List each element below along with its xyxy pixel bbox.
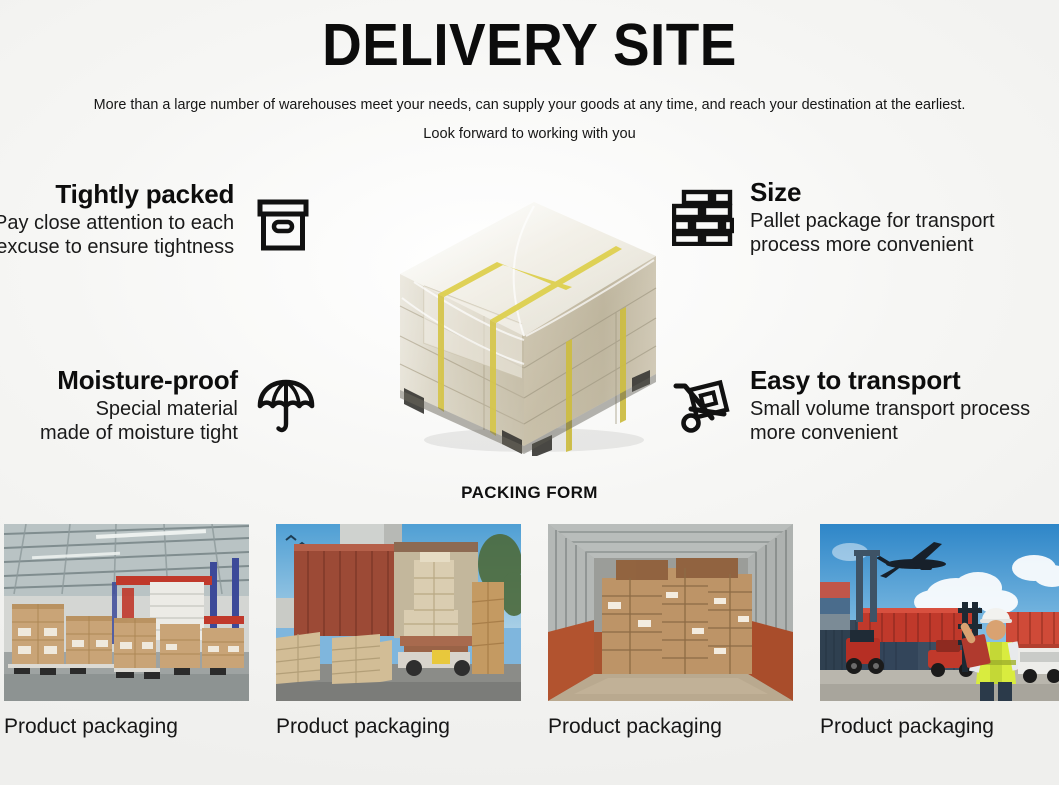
feature-text-block: Moisture-proof Special material made of … (40, 366, 238, 445)
feature-size: Size Pallet package for transport proces… (672, 178, 995, 257)
gallery-caption: Product packaging (276, 716, 521, 737)
box-icon (252, 194, 314, 256)
header-subtitle-line-2: Look forward to working with you (0, 126, 1059, 142)
delivery-site-banner: DELIVERY SITE More than a large number o… (0, 0, 1059, 785)
feature-moisture-proof: Moisture-proof Special material made of … (40, 366, 316, 445)
container-interior-photo[interactable] (548, 524, 793, 701)
page-title: DELIVERY SITE (37, 14, 1022, 77)
header: DELIVERY SITE More than a large number o… (0, 0, 1059, 142)
gallery-item[interactable]: Product packaging (4, 524, 249, 737)
feature-text-block: Size Pallet package for transport proces… (750, 178, 995, 257)
gallery-caption: Product packaging (820, 716, 1059, 737)
feature-text-block: Tightly packed Pay close attention to ea… (0, 180, 234, 259)
gallery-item[interactable]: Product packaging (820, 524, 1059, 737)
gallery: Product packaging (0, 524, 1059, 737)
packing-form-label: PACKING FORM (0, 483, 1059, 503)
feature-desc-line-1: Pallet package for transport (750, 210, 995, 233)
feature-title: Tightly packed (55, 180, 234, 209)
feature-desc-line-2: process more convenient (750, 234, 973, 257)
feature-title: Moisture-proof (57, 366, 238, 395)
feature-tightly-packed: Tightly packed Pay close attention to ea… (0, 180, 314, 259)
port-logistics-illustration[interactable] (820, 524, 1059, 701)
feature-desc-line-1: Small volume transport process (750, 398, 1030, 421)
feature-text-block: Easy to transport Small volume transport… (750, 366, 1030, 445)
feature-desc-line-2: excuse to ensure tightness (0, 236, 234, 259)
container-loading-photo[interactable] (276, 524, 521, 701)
feature-desc-line-1: Special material (96, 398, 238, 421)
gallery-item[interactable]: Product packaging (548, 524, 793, 737)
brick-wall-icon (672, 188, 734, 246)
gallery-item[interactable]: Product packaging (276, 524, 521, 737)
header-subtitle-line-1: More than a large number of warehouses m… (8, 97, 1051, 114)
feature-desc-line-2: made of moisture tight (40, 422, 238, 445)
gallery-caption: Product packaging (548, 716, 793, 737)
hand-truck-icon (672, 376, 736, 436)
feature-title: Easy to transport (750, 366, 960, 395)
feature-desc-line-1: Pay close attention to each (0, 212, 234, 235)
warehouse-pallets-photo[interactable] (4, 524, 249, 701)
feature-title: Size (750, 178, 801, 207)
gallery-caption: Product packaging (4, 716, 249, 737)
umbrella-icon (256, 378, 316, 436)
wrapped-pallet-photo (384, 178, 666, 456)
feature-desc-line-2: more convenient (750, 422, 898, 445)
feature-easy-transport: Easy to transport Small volume transport… (672, 366, 1030, 445)
